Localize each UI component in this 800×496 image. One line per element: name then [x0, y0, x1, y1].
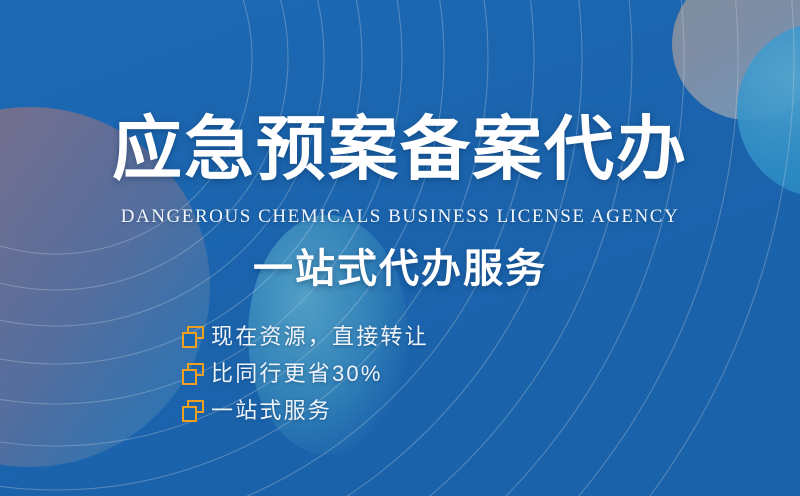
list-item: 一站式服务: [182, 392, 612, 429]
feature-list: 现在资源，直接转让 比同行更省30% 一站式服务: [182, 318, 612, 429]
overlapping-squares-icon: [182, 400, 204, 422]
page-title: 应急预案备案代办: [0, 111, 800, 187]
list-item: 现在资源，直接转让: [182, 318, 612, 355]
feature-text: 比同行更省30%: [211, 361, 383, 387]
overlapping-squares-icon: [182, 363, 204, 385]
english-subtitle: DANGEROUS CHEMICALS BUSINESS LICENSE AGE…: [0, 206, 800, 228]
overlapping-squares-icon: [182, 326, 204, 348]
feature-text: 一站式服务: [211, 398, 332, 424]
list-item: 比同行更省30%: [182, 355, 612, 392]
banner-content: 应急预案备案代办 DANGEROUS CHEMICALS BUSINESS LI…: [0, 0, 800, 496]
promotional-banner: 应急预案备案代办 DANGEROUS CHEMICALS BUSINESS LI…: [0, 0, 800, 496]
sub-title: 一站式代办服务: [0, 244, 800, 294]
feature-text: 现在资源，直接转让: [211, 324, 429, 350]
